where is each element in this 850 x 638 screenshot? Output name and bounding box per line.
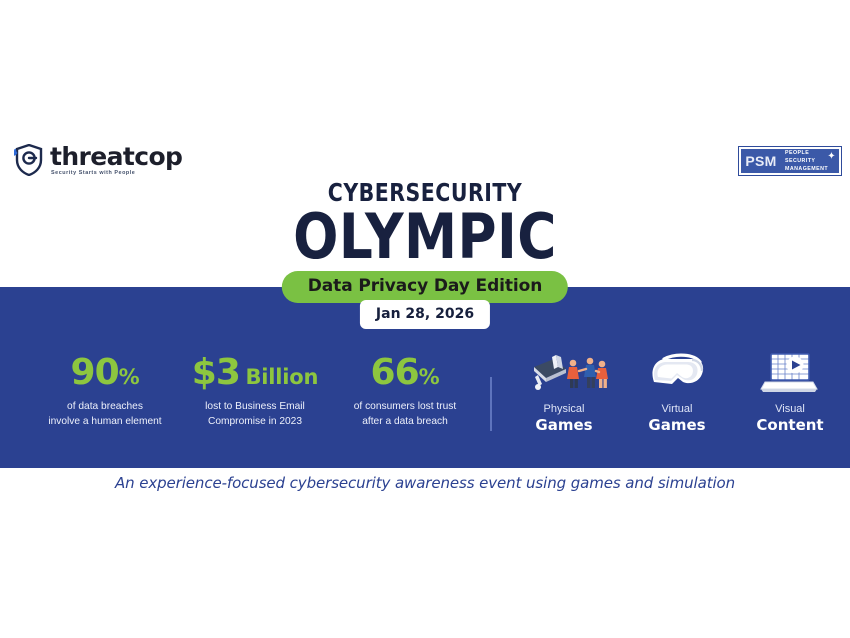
- card-virtual-games[interactable]: Virtual Games: [625, 350, 729, 435]
- date-badge-label: Jan 28, 2026: [376, 306, 474, 322]
- stats-group: 90% of data breaches involve a human ele…: [30, 355, 480, 430]
- stat-item: $3 Billion lost to Business Email Compro…: [180, 355, 330, 430]
- edition-badge: Data Privacy Day Edition: [282, 271, 568, 303]
- edition-badge-label: Data Privacy Day Edition: [308, 276, 542, 296]
- physical-games-icon: [512, 350, 616, 396]
- card-label-line1: Virtual: [625, 403, 729, 416]
- threatcop-wordmark: threatcop: [50, 144, 182, 169]
- card-visual-content[interactable]: Visual Content: [738, 350, 842, 435]
- stat-item: 90% of data breaches involve a human ele…: [30, 355, 180, 430]
- stat-value: 66: [371, 352, 419, 393]
- stat-description: of consumers lost trust after a data bre…: [330, 400, 480, 430]
- stat-description: of data breaches involve a human element: [30, 400, 180, 430]
- stat-desc-line2: after a data breach: [330, 415, 480, 430]
- date-badge: Jan 28, 2026: [360, 300, 490, 329]
- stat-number: 90%: [30, 355, 180, 391]
- stat-value: $3: [192, 352, 240, 393]
- threatcop-logo[interactable]: threatcop Security Starts with People: [14, 144, 182, 176]
- stat-value: 90: [71, 352, 119, 393]
- vr-headset-icon: [625, 350, 729, 396]
- stat-desc-line1: of data breaches: [30, 400, 180, 415]
- psm-mark: PSM: [741, 149, 781, 173]
- stat-desc-line2: involve a human element: [30, 415, 180, 430]
- vertical-divider: [490, 377, 492, 431]
- sparkle-icon: ✦: [825, 150, 838, 163]
- laptop-play-icon: [738, 350, 842, 396]
- stat-number: $3 Billion: [180, 355, 330, 391]
- page-title: CYBERSECURITY OLYMPIC: [0, 180, 850, 267]
- stat-number: 66%: [330, 355, 480, 391]
- format-cards: Physical Games Virtual Games: [512, 350, 842, 435]
- psm-logo-inner: PSM PEOPLE SECURITY MANAGEMENT ✦: [741, 149, 839, 173]
- card-label-line1: Physical: [512, 403, 616, 416]
- card-label-line1: Visual: [738, 403, 842, 416]
- psm-logo[interactable]: PSM PEOPLE SECURITY MANAGEMENT ✦: [738, 146, 842, 176]
- stat-desc-line2: Compromise in 2023: [180, 415, 330, 430]
- threatcop-tagline: Security Starts with People: [51, 171, 182, 176]
- stat-unit: %: [119, 365, 140, 389]
- shield-icon: [14, 144, 44, 176]
- stat-desc-line1: lost to Business Email: [180, 400, 330, 415]
- title-main: OLYMPIC: [60, 208, 791, 267]
- stat-item: 66% of consumers lost trust after a data…: [330, 355, 480, 430]
- stat-desc-line1: of consumers lost trust: [330, 400, 480, 415]
- card-label-line2: Games: [512, 416, 616, 435]
- card-label-line2: Games: [625, 416, 729, 435]
- card-label-line2: Content: [738, 416, 842, 435]
- stat-unit: Billion: [245, 365, 318, 389]
- footer-tagline: An experience-focused cybersecurity awar…: [0, 474, 850, 492]
- stat-unit: %: [419, 365, 440, 389]
- event-banner: threatcop Security Starts with People PS…: [0, 0, 850, 638]
- psm-line-management: MANAGEMENT: [785, 165, 839, 173]
- card-physical-games[interactable]: Physical Games: [512, 350, 616, 435]
- stat-description: lost to Business Email Compromise in 202…: [180, 400, 330, 430]
